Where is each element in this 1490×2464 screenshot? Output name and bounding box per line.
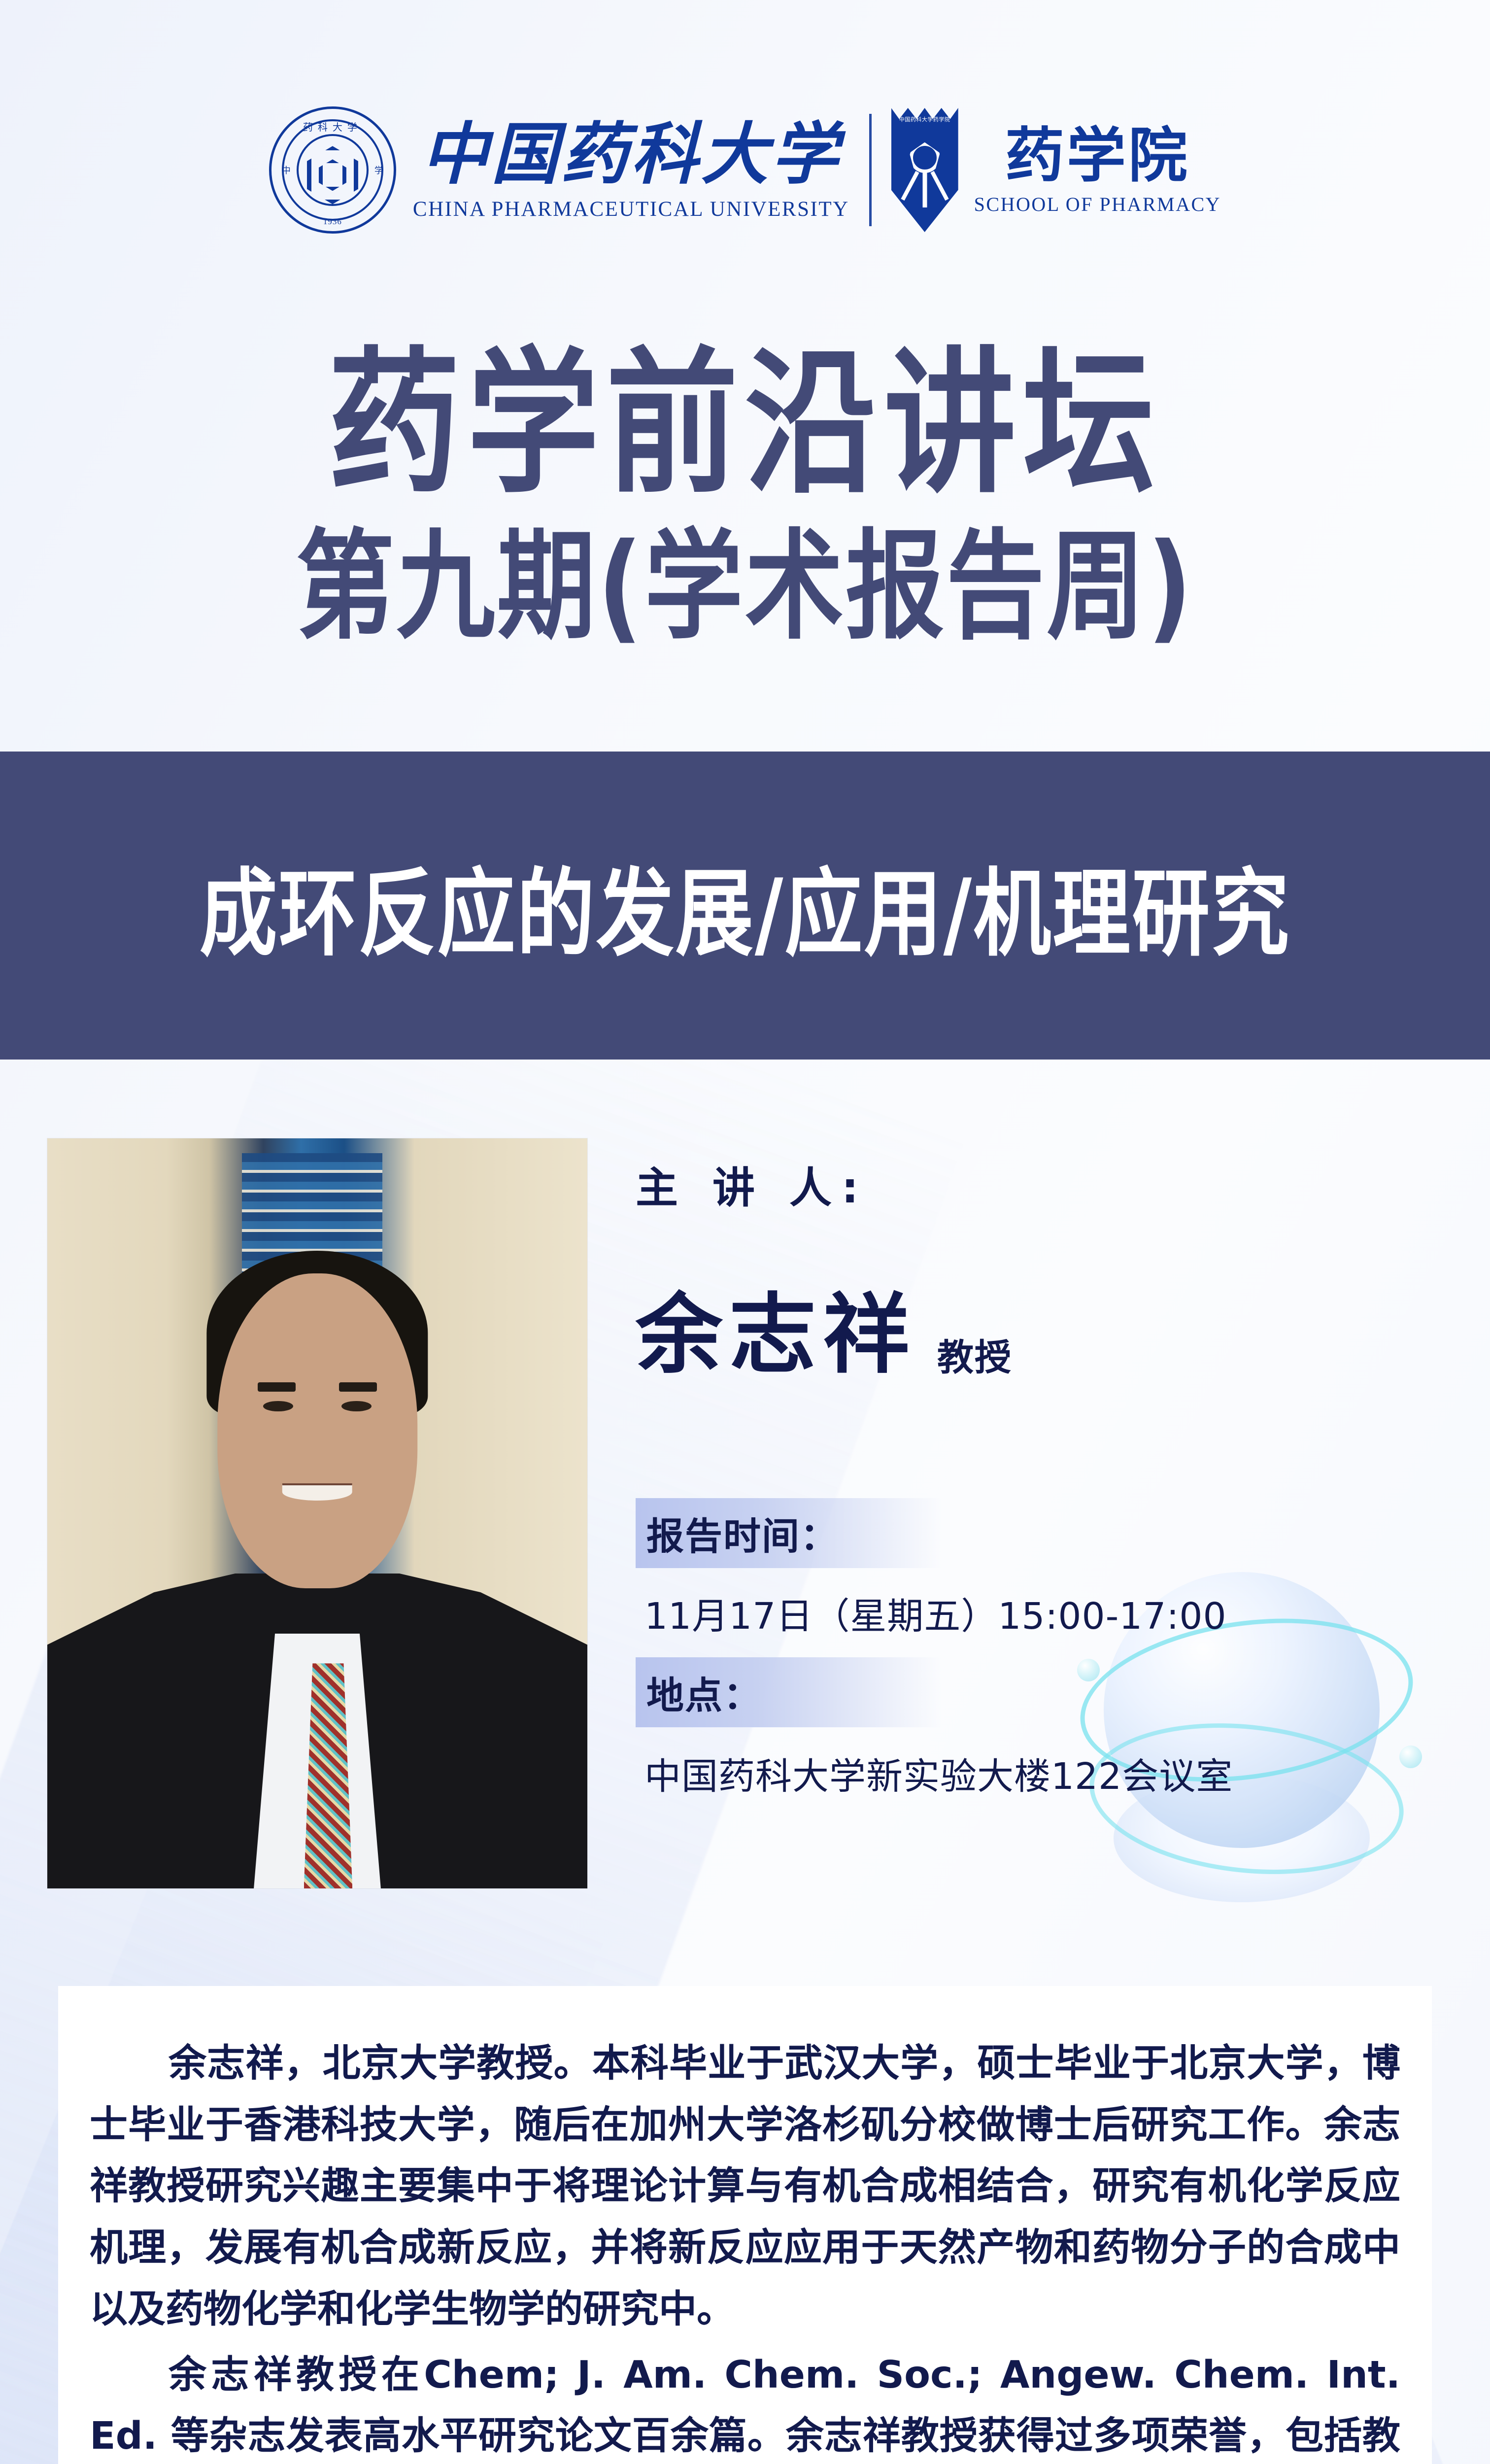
topic-banner: 成环反应的发展/应用/机理研究 [0, 752, 1490, 1060]
speaker-photo [47, 1138, 587, 1888]
institution-logo-row: 药科大学 中 学 1936 中国药科大学 CHINA PHARMACEUTICA… [0, 89, 1490, 251]
time-label-chip: 报告时间： [636, 1498, 941, 1568]
title-line-1: 药学前沿讲坛 [0, 345, 1490, 504]
place-value: 中国药科大学新实验大楼122会议室 [644, 1747, 1463, 1800]
speaker-name: 余志祥 [636, 1264, 916, 1390]
speaker-block: 主 讲 人: 余志祥 教授 [636, 1153, 1454, 1390]
seal-left-glyph: 中 [282, 164, 291, 176]
title-line-2: 第九期(学术报告周) [0, 527, 1490, 648]
poster-canvas: 药科大学 中 学 1936 中国药科大学 CHINA PHARMACEUTICA… [0, 0, 1490, 2464]
biography-paragraph-2: 余志祥教授在Chem; J. Am. Chem. Soc.; Angew. Ch… [58, 2341, 1432, 2464]
school-name-zh: 药学院 [974, 125, 1221, 187]
poster-title: 药学前沿讲坛 第九期(学术报告周) [0, 345, 1490, 627]
university-name-en: CHINA PHARMACEUTICAL UNIVERSITY [413, 197, 849, 221]
biography-card: 余志祥，北京大学教授。本科毕业于武汉大学，硕士毕业于北京大学，博士毕业于香港科技… [58, 1986, 1432, 2464]
place-label: 地点： [646, 1674, 762, 1717]
place-label-chip: 地点： [636, 1657, 941, 1727]
university-wordmark: 中国药科大学 CHINA PHARMACEUTICAL UNIVERSITY [413, 119, 849, 221]
university-seal-icon: 药科大学 中 学 1936 [269, 106, 396, 234]
shield-micro-text: 中国药科大学药学院 [899, 115, 950, 123]
logo-divider [869, 114, 872, 226]
speaker-label: 主 讲 人: [636, 1153, 1454, 1215]
university-name-zh: 中国药科大学 [413, 119, 849, 190]
topic-text: 成环反应的发展/应用/机理研究 [200, 837, 1290, 974]
seal-founding-year: 1936 [323, 217, 342, 227]
seal-top-glyph: 药科大学 [303, 119, 362, 134]
school-name-en: SCHOOL OF PHARMACY [974, 193, 1221, 216]
event-details: 报告时间： 11月17日（星期五）15:00-17:00 地点： 中国药科大学新… [636, 1498, 1463, 1817]
speaker-academic-title: 教授 [937, 1328, 1012, 1381]
time-value: 11月17日（星期五）15:00-17:00 [644, 1587, 1463, 1640]
time-label: 报告时间： [646, 1514, 839, 1558]
school-shield-icon: 中国药科大学药学院 [891, 108, 958, 232]
school-wordmark: 药学院 SCHOOL OF PHARMACY [974, 125, 1221, 216]
biography-paragraph-1: 余志祥，北京大学教授。本科毕业于武汉大学，硕士毕业于北京大学，博士毕业于香港科技… [58, 1986, 1432, 2341]
seal-right-glyph: 学 [374, 164, 383, 176]
speaker-name-row: 余志祥 教授 [636, 1264, 1454, 1390]
